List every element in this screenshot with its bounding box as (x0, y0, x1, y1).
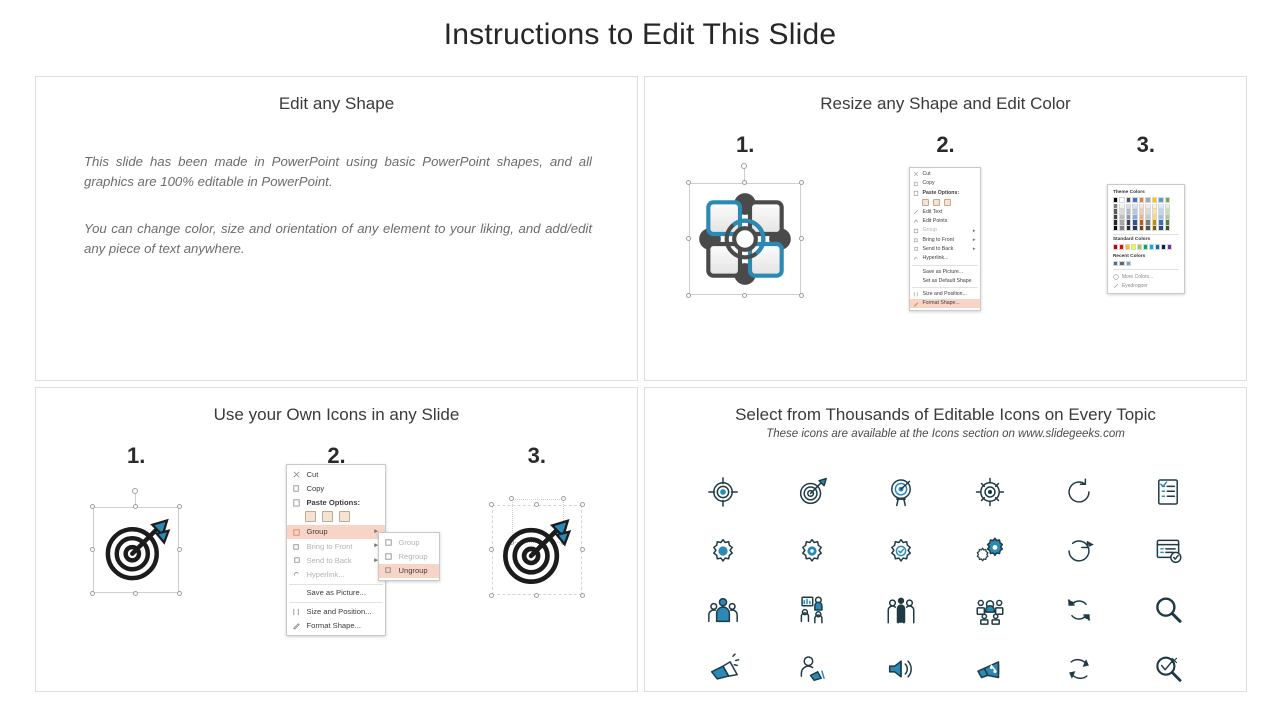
rotate-cycle-icon[interactable] (1062, 652, 1096, 686)
own-icons-step-3-art (437, 475, 637, 625)
theme-tint-3-4[interactable] (1132, 226, 1138, 232)
panel-edit-shape: Edit any Shape This slide has been made … (35, 76, 638, 381)
own-icons-step-2: 2. CutCopyPaste Options:Group►Bring to F… (236, 443, 436, 625)
submenu-item-label: Group (398, 538, 419, 547)
person-megaphone-icon[interactable] (795, 652, 829, 686)
menu-item-cut[interactable]: Cut (910, 170, 980, 179)
handle-e[interactable] (177, 547, 182, 552)
submenu-chevron-icon: ► (972, 228, 976, 234)
megaphone-percent-icon[interactable] (973, 652, 1007, 686)
menu-item-label: Hyperlink... (306, 570, 344, 579)
menu-item-label: Format Shape... (306, 621, 360, 630)
own-icons-step-2-art: CutCopyPaste Options:Group►Bring to Fron… (236, 475, 436, 625)
theme-tint-4-4[interactable] (1139, 226, 1145, 232)
theme-tint-0-4[interactable] (1113, 226, 1119, 232)
copy-icon (292, 484, 301, 493)
menu-item-label: Format Shape... (922, 300, 959, 307)
slide-root: Instructions to Edit This Slide Edit any… (0, 0, 1280, 720)
menu-item-paste-options[interactable]: Paste Options: (287, 496, 385, 510)
magnifier-icon[interactable] (1151, 593, 1185, 627)
menu-icon-placeholder (913, 269, 919, 275)
more-colors-label: More Colors... (1122, 274, 1153, 280)
menu-item-label: Bring to Front (922, 237, 953, 244)
theme-tint-column-4[interactable] (1139, 204, 1145, 232)
menu-separator (912, 287, 978, 288)
standard-swatch-5[interactable] (1143, 244, 1148, 250)
menu-item-hyperlink[interactable]: Hyperlink... (287, 568, 385, 582)
theme-swatch-3[interactable] (1132, 197, 1138, 203)
paste-picture-icon[interactable] (322, 511, 333, 522)
send-back-icon (292, 556, 301, 565)
theme-swatch-4[interactable] (1139, 197, 1145, 203)
theme-swatch-2[interactable] (1126, 197, 1132, 203)
menu-item-label: Copy (922, 180, 934, 187)
paste-options-row[interactable] (287, 510, 385, 525)
handle-sw[interactable] (489, 593, 494, 598)
own-icons-step-1-number: 1. (36, 443, 236, 469)
menu-item-label: Bring to Front (306, 542, 352, 551)
theme-swatch-0[interactable] (1113, 197, 1119, 203)
menu-item-save-as-picture[interactable]: Save as Picture... (910, 267, 980, 276)
standard-swatch-9[interactable] (1167, 244, 1172, 250)
standard-swatch-6[interactable] (1149, 244, 1154, 250)
menu-icon-placeholder (292, 589, 301, 598)
gear-center-icon[interactable] (795, 534, 829, 568)
resize-step-2-number: 2. (845, 132, 1045, 158)
theme-tint-8-4[interactable] (1165, 226, 1171, 232)
menu-item-label: Paste Options: (922, 190, 959, 197)
menu-item-label: Save as Picture... (922, 269, 963, 276)
presentation-team-icon[interactable] (795, 593, 829, 627)
copy-icon (913, 181, 919, 187)
group-icon (292, 528, 301, 537)
theme-tint-1-4[interactable] (1119, 226, 1125, 232)
eyedropper-item[interactable]: Eyedropper (1113, 281, 1179, 290)
menu-item-hyperlink[interactable]: Hyperlink... (910, 254, 980, 263)
palette-divider-2 (1113, 269, 1179, 270)
recent-swatch-1[interactable] (1119, 261, 1125, 267)
bring-front-icon (913, 237, 919, 243)
crosshair-target-icon[interactable] (706, 475, 740, 509)
submenu-item-label: Regroup (398, 552, 427, 561)
standard-swatch-8[interactable] (1161, 244, 1166, 250)
theme-swatch-6[interactable] (1152, 197, 1158, 203)
menu-item-label: Send to Back (306, 556, 351, 565)
own-icons-step-1: 1. (36, 443, 236, 625)
target-selection-box[interactable] (93, 507, 179, 593)
regroup-icon (384, 552, 393, 561)
own-icons-step-1-art (36, 475, 236, 625)
ungrouped-target-box[interactable] (492, 505, 582, 595)
resize-step-1: 1. (645, 132, 845, 314)
palette-wheel-icon (1113, 274, 1119, 280)
resize-steps: 1. (645, 132, 1246, 314)
gear-solid-icon[interactable] (706, 534, 740, 568)
menu-item-send-to-back[interactable]: Send to Back► (910, 245, 980, 254)
menu-item-label: Paste Options: (306, 498, 360, 507)
menu-item-group[interactable]: Group► (910, 226, 980, 235)
menu-separator (289, 584, 383, 585)
theme-tint-7-4[interactable] (1158, 226, 1164, 232)
rotate-handle-icon[interactable] (132, 488, 138, 494)
theme-swatch-1[interactable] (1119, 197, 1125, 203)
recent-swatch-2[interactable] (1126, 261, 1132, 267)
reload-circle-icon[interactable] (1062, 534, 1096, 568)
submenu-item-group[interactable]: Group (379, 535, 439, 549)
standard-swatch-4[interactable] (1137, 244, 1142, 250)
sub-handle-ne[interactable] (561, 496, 566, 501)
group-menu-wrapper: CutCopyPaste Options:Group►Bring to Fron… (286, 464, 386, 636)
handle-se[interactable] (580, 593, 585, 598)
send-back-icon (913, 246, 919, 252)
panel-edit-shape-title: Edit any Shape (36, 94, 637, 114)
meeting-people-icon[interactable] (973, 593, 1007, 627)
standard-swatch-7[interactable] (1155, 244, 1160, 250)
handle-s[interactable] (133, 591, 138, 596)
format-shape-icon (913, 301, 919, 307)
panel-grid: Edit any Shape This slide has been made … (35, 76, 1247, 696)
panel-own-icons: Use your Own Icons in any Slide 1. (35, 387, 638, 692)
paste-text-only-icon[interactable] (944, 199, 951, 206)
handle-e[interactable] (799, 236, 804, 241)
own-icons-step-3: 3. (437, 443, 637, 625)
scissors-icon (913, 171, 919, 177)
edit-shape-paragraph-2: You can change color, size and orientati… (84, 219, 592, 260)
theme-tint-column-5[interactable] (1145, 204, 1151, 232)
palette-divider-1 (1113, 234, 1179, 235)
paste-options-row[interactable] (910, 198, 980, 208)
recent-swatch-0[interactable] (1113, 261, 1119, 267)
menu-item-size-and-position[interactable]: Size and Position... (287, 604, 385, 618)
submenu-chevron-icon: ► (972, 246, 976, 252)
paste-icon (292, 498, 301, 507)
theme-swatch-5[interactable] (1145, 197, 1151, 203)
handle-sw[interactable] (90, 591, 95, 596)
standard-swatch-1[interactable] (1119, 244, 1124, 250)
target-stand-icon[interactable] (884, 475, 918, 509)
submenu-item-ungroup[interactable]: Ungroup (379, 564, 439, 578)
standard-colors-row[interactable] (1113, 244, 1179, 250)
submenu-item-label: Ungroup (398, 566, 427, 575)
eyedropper-label: Eyedropper (1122, 283, 1148, 289)
handle-s[interactable] (742, 293, 747, 298)
menu-item-label: Send to Back (922, 246, 953, 253)
edit-points-icon (913, 218, 919, 224)
people-group-icon[interactable] (884, 593, 918, 627)
four-square-target-icon (695, 189, 795, 289)
menu-item-label: Group (922, 227, 936, 234)
menu-item-set-as-default-shape[interactable]: Set as Default Shape (910, 276, 980, 285)
team-group-icon[interactable] (706, 593, 740, 627)
edit-shape-paragraph-1: This slide has been made in PowerPoint u… (84, 152, 592, 193)
shape-selection-box[interactable] (689, 183, 801, 295)
rotate-handle-icon[interactable] (741, 163, 747, 169)
theme-tint-column-1[interactable] (1119, 204, 1125, 232)
menu-item-label: Edit Points (922, 218, 947, 225)
panel-icon-gallery-subtitle: These icons are available at the Icons s… (645, 428, 1246, 440)
menu-item-label: Cut (922, 171, 930, 178)
panel-own-icons-title: Use your Own Icons in any Slide (36, 405, 637, 425)
target-dart-icon (496, 513, 574, 591)
menu-item-bring-to-front[interactable]: Bring to Front► (910, 235, 980, 244)
menu-item-edit-text[interactable]: Edit Text (910, 208, 980, 217)
standard-colors-label: Standard Colors (1113, 237, 1179, 242)
theme-tint-5-4[interactable] (1145, 226, 1151, 232)
shape-context-menu[interactable]: CutCopyPaste Options:Edit TextEdit Point… (909, 167, 981, 312)
menu-item-save-as-picture[interactable]: Save as Picture... (287, 586, 385, 600)
menu-item-copy[interactable]: Copy (287, 481, 385, 495)
submenu-chevron-icon: ► (972, 237, 976, 243)
target-dart-icon[interactable] (795, 475, 829, 509)
more-colors-item[interactable]: More Colors... (1113, 272, 1179, 281)
megaphone-icon[interactable] (706, 652, 740, 686)
theme-tints-grid[interactable] (1113, 204, 1179, 232)
color-picker-popup[interactable]: Theme Colors Standard Colors Recent Colo… (1107, 184, 1185, 294)
menu-item-size-and-position[interactable]: Size and Position... (910, 290, 980, 299)
panel-icon-gallery: Select from Thousands of Editable Icons … (644, 387, 1247, 692)
theme-tint-column-7[interactable] (1158, 204, 1164, 232)
theme-tint-2-4[interactable] (1126, 226, 1132, 232)
sync-arrows-icon[interactable] (1062, 593, 1096, 627)
theme-tint-column-6[interactable] (1152, 204, 1158, 232)
menu-item-edit-points[interactable]: Edit Points (910, 217, 980, 226)
standard-swatch-3[interactable] (1131, 244, 1136, 250)
handle-e[interactable] (580, 547, 585, 552)
panel-resize-shape-title: Resize any Shape and Edit Color (645, 94, 1246, 114)
menu-item-format-shape[interactable]: Format Shape... (910, 299, 980, 308)
resize-step-2: 2. CutCopyPaste Options:Edit TextEdit Po… (845, 132, 1045, 314)
paste-text-only-icon[interactable] (339, 511, 350, 522)
speaker-announce-icon[interactable] (884, 652, 918, 686)
recent-colors-label: Recent Colors (1113, 254, 1179, 259)
menu-item-bring-to-front[interactable]: Bring to Front► (287, 539, 385, 553)
panel-icon-gallery-title: Select from Thousands of Editable Icons … (645, 405, 1246, 425)
standard-swatch-0[interactable] (1113, 244, 1118, 250)
sub-handle-nw[interactable] (509, 496, 514, 501)
target-dart-icon (99, 513, 173, 587)
handle-ne[interactable] (799, 180, 804, 185)
menu-item-label: Size and Position... (306, 607, 371, 616)
menu-item-label: Group (306, 527, 327, 536)
hyperlink-icon (913, 256, 919, 262)
menu-item-label: Set as Default Shape (922, 278, 971, 285)
group-context-menu[interactable]: CutCopyPaste Options:Group►Bring to Fron… (286, 464, 386, 636)
handle-ne[interactable] (177, 504, 182, 509)
menu-item-label: Copy (306, 484, 324, 493)
theme-swatch-8[interactable] (1165, 197, 1171, 203)
resize-step-2-art: CutCopyPaste Options:Edit TextEdit Point… (845, 164, 1045, 314)
menu-separator (912, 265, 978, 266)
handle-se[interactable] (799, 293, 804, 298)
icon-gallery-grid (679, 462, 1212, 692)
size-position-icon (913, 291, 919, 297)
refresh-clockwise-icon[interactable] (1062, 475, 1096, 509)
gear-check-icon[interactable] (884, 534, 918, 568)
group-icon (384, 538, 393, 547)
group-submenu[interactable]: GroupRegroupUngroup (378, 532, 440, 581)
edit-shape-body: This slide has been made in PowerPoint u… (36, 114, 637, 260)
theme-tint-column-2[interactable] (1126, 204, 1132, 232)
paste-icon (913, 190, 919, 196)
paste-keep-formatting-icon[interactable] (922, 199, 929, 206)
menu-item-send-to-back[interactable]: Send to Back► (287, 554, 385, 568)
resize-step-1-number: 1. (645, 132, 845, 158)
menu-icon-placeholder (913, 278, 919, 284)
ungroup-icon (384, 566, 393, 575)
theme-tint-column-8[interactable] (1165, 204, 1171, 232)
format-shape-icon (292, 621, 301, 630)
paste-picture-icon[interactable] (933, 199, 940, 206)
checklist-document-icon[interactable] (1151, 475, 1185, 509)
eyedropper-icon (1113, 283, 1119, 289)
page-title: Instructions to Edit This Slide (0, 0, 1280, 52)
menu-item-label: Hyperlink... (922, 255, 948, 262)
resize-step-3-art: Theme Colors Standard Colors Recent Colo… (1046, 164, 1246, 314)
menu-item-format-shape[interactable]: Format Shape... (287, 619, 385, 633)
handle-w[interactable] (489, 547, 494, 552)
document-approved-icon[interactable] (1151, 534, 1185, 568)
bring-front-icon (292, 542, 301, 551)
theme-tint-6-4[interactable] (1152, 226, 1158, 232)
resize-step-3: 3. Theme Colors Standard Colors Recent C… (1046, 132, 1246, 314)
recent-colors-row[interactable] (1113, 261, 1179, 267)
theme-tint-column-3[interactable] (1132, 204, 1138, 232)
submenu-item-regroup[interactable]: Regroup (379, 549, 439, 563)
size-position-icon (292, 607, 301, 616)
menu-separator (289, 602, 383, 603)
resize-step-1-art (645, 164, 845, 314)
own-icons-steps: 1. (36, 443, 637, 625)
menu-item-label: Save as Picture... (306, 588, 366, 597)
paste-keep-formatting-icon[interactable] (305, 511, 316, 522)
handle-nw[interactable] (489, 502, 494, 507)
resize-step-3-number: 3. (1046, 132, 1246, 158)
hyperlink-icon (292, 570, 301, 579)
theme-colors-row[interactable] (1113, 197, 1179, 203)
own-icons-step-3-number: 3. (437, 443, 637, 469)
group-icon (913, 228, 919, 234)
gears-pair-icon[interactable] (973, 534, 1007, 568)
handle-se[interactable] (177, 591, 182, 596)
menu-item-cut[interactable]: Cut (287, 467, 385, 481)
handle-sw[interactable] (686, 293, 691, 298)
handle-ne[interactable] (580, 502, 585, 507)
menu-item-label: Edit Text (922, 209, 942, 216)
standard-swatch-2[interactable] (1125, 244, 1130, 250)
panel-resize-shape: Resize any Shape and Edit Color 1. (644, 76, 1247, 381)
menu-item-copy[interactable]: Copy (910, 179, 980, 188)
crosshair-scope-icon[interactable] (973, 475, 1007, 509)
theme-colors-label: Theme Colors (1113, 190, 1179, 195)
edit-text-icon (913, 209, 919, 215)
scissors-icon (292, 470, 301, 479)
menu-item-paste-options[interactable]: Paste Options: (910, 188, 980, 197)
handle-s[interactable] (534, 593, 539, 598)
menu-item-label: Size and Position... (922, 291, 966, 298)
theme-tint-column-0[interactable] (1113, 204, 1119, 232)
theme-swatch-7[interactable] (1158, 197, 1164, 203)
menu-item-label: Cut (306, 470, 318, 479)
magnifier-check-icon[interactable] (1151, 652, 1185, 686)
menu-item-group[interactable]: Group► (287, 525, 385, 539)
